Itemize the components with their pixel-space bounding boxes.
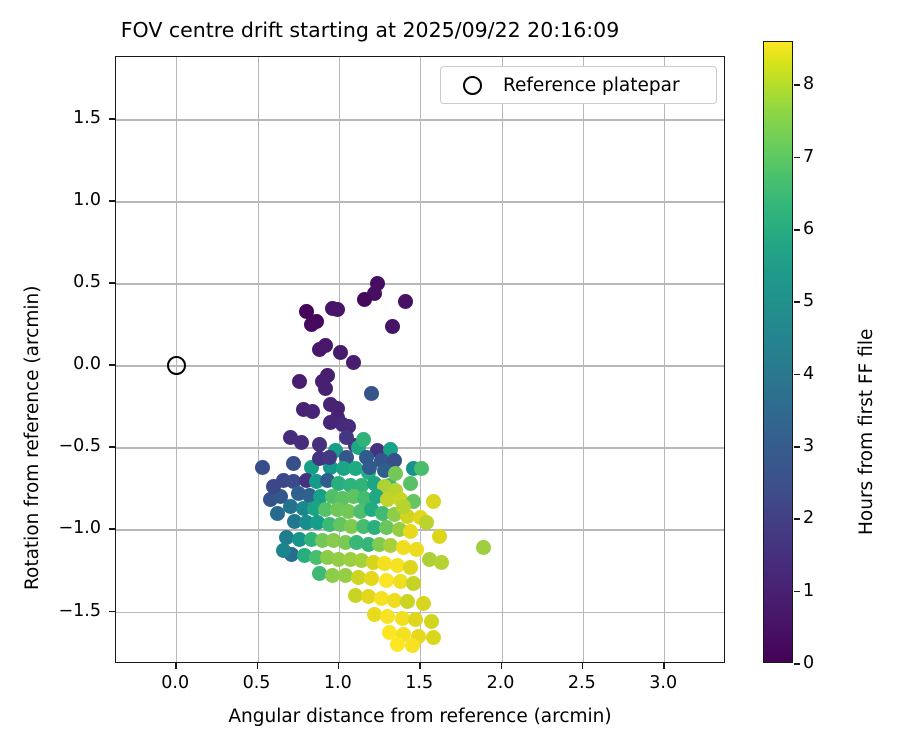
x-tick-label: 1.0 bbox=[324, 673, 352, 693]
colorbar-tick bbox=[794, 518, 800, 520]
scatter-point bbox=[294, 435, 309, 450]
scatter-point bbox=[284, 547, 299, 562]
scatter-point bbox=[374, 453, 389, 468]
scatter-point bbox=[379, 573, 394, 588]
scatter-point bbox=[351, 570, 366, 585]
scatter-point bbox=[286, 474, 301, 489]
legend: Reference platepar bbox=[440, 66, 717, 104]
colorbar-gradient bbox=[763, 41, 793, 663]
scatter-point bbox=[318, 338, 333, 353]
x-tick bbox=[338, 663, 340, 669]
y-tick bbox=[109, 446, 115, 448]
figure-root: FOV centre drift starting at 2025/09/22 … bbox=[0, 0, 900, 750]
scatter-point bbox=[348, 588, 363, 603]
legend-marker-cell bbox=[441, 76, 503, 95]
scatter-point bbox=[331, 552, 346, 567]
scatter-point bbox=[279, 530, 294, 545]
scatter-point bbox=[403, 524, 418, 539]
scatter-point bbox=[341, 504, 356, 519]
scatter-point bbox=[330, 502, 345, 517]
scatter-point bbox=[318, 502, 333, 517]
scatter-point bbox=[283, 430, 298, 445]
scatter-point bbox=[304, 317, 319, 332]
scatter-point bbox=[320, 473, 335, 488]
scatter-point bbox=[336, 461, 351, 476]
scatter-point bbox=[330, 410, 345, 425]
scatter-point bbox=[409, 542, 424, 557]
scatter-point bbox=[380, 609, 395, 624]
scatter-point bbox=[304, 460, 319, 475]
scatter-point bbox=[325, 489, 340, 504]
scatter-point bbox=[309, 314, 324, 329]
scatter-point bbox=[392, 522, 407, 537]
x-tick bbox=[582, 663, 584, 669]
colorbar-tick-label: 4 bbox=[803, 364, 814, 384]
colorbar-tick-label: 0 bbox=[803, 653, 814, 673]
y-tick-label: 1.0 bbox=[73, 190, 101, 210]
scatter-point bbox=[375, 506, 390, 521]
scatter-point bbox=[379, 520, 394, 535]
scatter-point bbox=[344, 519, 359, 534]
colorbar-tick bbox=[794, 663, 800, 665]
scatter-point bbox=[396, 499, 411, 514]
scatter-point bbox=[426, 494, 441, 509]
scatter-point bbox=[320, 550, 335, 565]
gridline-vertical bbox=[339, 57, 340, 662]
scatter-point bbox=[387, 593, 402, 608]
page-title: FOV centre drift starting at 2025/09/22 … bbox=[0, 18, 740, 42]
y-tick bbox=[109, 282, 115, 284]
scatter-point bbox=[354, 478, 369, 493]
scatter-point bbox=[320, 368, 335, 383]
scatter-point bbox=[338, 568, 353, 583]
scatter-point bbox=[296, 501, 311, 516]
scatter-point bbox=[416, 596, 431, 611]
scatter-point bbox=[396, 627, 411, 642]
gridline-horizontal bbox=[116, 365, 724, 366]
colorbar-tick-label: 2 bbox=[803, 508, 814, 528]
scatter-point bbox=[382, 625, 397, 640]
scatter-point bbox=[426, 630, 441, 645]
scatter-point bbox=[273, 489, 288, 504]
scatter-point bbox=[276, 543, 291, 558]
scatter-point bbox=[398, 294, 413, 309]
scatter-point bbox=[400, 594, 415, 609]
scatter-point bbox=[434, 555, 449, 570]
x-tick bbox=[257, 663, 259, 669]
scatter-point bbox=[395, 611, 410, 626]
scatter-point bbox=[297, 548, 312, 563]
gridline-vertical bbox=[583, 57, 584, 662]
scatter-point bbox=[270, 506, 285, 521]
scatter-point bbox=[312, 566, 327, 581]
scatter-point bbox=[348, 438, 363, 453]
scatter-point bbox=[325, 301, 340, 316]
scatter-point bbox=[328, 443, 343, 458]
scatter-point bbox=[325, 568, 340, 583]
scatter-point bbox=[367, 607, 382, 622]
scatter-point bbox=[299, 304, 314, 319]
scatter-point bbox=[364, 502, 379, 517]
scatter-point bbox=[387, 507, 402, 522]
scatter-point bbox=[333, 345, 348, 360]
colorbar-tick bbox=[794, 374, 800, 376]
scatter-point bbox=[318, 381, 333, 396]
scatter-point bbox=[283, 499, 298, 514]
colorbar-tick bbox=[794, 84, 800, 86]
scatter-point bbox=[346, 355, 361, 370]
scatter-point bbox=[357, 491, 372, 506]
plot-area bbox=[115, 56, 725, 663]
scatter-point bbox=[312, 451, 327, 466]
scatter-point bbox=[408, 612, 423, 627]
scatter-point bbox=[322, 450, 337, 465]
scatter-point bbox=[255, 460, 270, 475]
y-tick-label: 1.5 bbox=[73, 108, 101, 128]
scatter-point bbox=[369, 489, 384, 504]
scatter-point bbox=[424, 614, 439, 629]
gridline-horizontal bbox=[116, 283, 724, 284]
scatter-point bbox=[380, 492, 395, 507]
colorbar-tick bbox=[794, 301, 800, 303]
scatter-point bbox=[348, 461, 363, 476]
scatter-point bbox=[390, 637, 405, 652]
colorbar-tick-label: 6 bbox=[803, 219, 814, 239]
scatter-point bbox=[291, 486, 306, 501]
scatter-point bbox=[299, 515, 314, 530]
y-tick bbox=[109, 528, 115, 530]
scatter-point bbox=[287, 514, 302, 529]
gridline-vertical bbox=[664, 57, 665, 662]
y-tick bbox=[109, 118, 115, 120]
scatter-point bbox=[299, 473, 314, 488]
scatter-point bbox=[309, 474, 324, 489]
x-tick bbox=[175, 663, 177, 669]
scatter-point bbox=[364, 571, 379, 586]
scatter-point bbox=[323, 397, 338, 412]
scatter-point bbox=[341, 419, 356, 434]
scatter-point bbox=[370, 276, 385, 291]
scatter-point bbox=[377, 463, 392, 478]
colorbar-tick-label: 5 bbox=[803, 291, 814, 311]
colorbar-tick-label: 3 bbox=[803, 436, 814, 456]
scatter-point bbox=[432, 529, 447, 544]
scatter-point bbox=[323, 460, 338, 475]
scatter-point bbox=[362, 460, 377, 475]
x-tick bbox=[419, 663, 421, 669]
gridline-horizontal bbox=[116, 119, 724, 120]
scatter-point bbox=[309, 550, 324, 565]
reference-platepar-marker bbox=[167, 356, 186, 375]
scatter-point bbox=[406, 461, 421, 476]
scatter-point bbox=[307, 501, 322, 516]
scatter-point bbox=[353, 504, 368, 519]
scatter-point bbox=[414, 461, 429, 476]
scatter-point bbox=[326, 533, 341, 548]
scatter-point bbox=[315, 374, 330, 389]
x-tick-label: 3.0 bbox=[649, 673, 677, 693]
scatter-point bbox=[377, 556, 392, 571]
scatter-point bbox=[396, 540, 411, 555]
scatter-point bbox=[331, 476, 346, 491]
y-tick bbox=[109, 611, 115, 613]
colorbar-tick-label: 8 bbox=[803, 74, 814, 94]
colorbar-title: Hours from first FF file bbox=[856, 329, 877, 535]
colorbar-tick bbox=[794, 591, 800, 593]
scatter-point bbox=[403, 560, 418, 575]
scatter-point bbox=[422, 552, 437, 567]
scatter-point bbox=[339, 430, 354, 445]
scatter-point bbox=[361, 537, 376, 552]
scatter-point bbox=[372, 537, 387, 552]
scatter-point bbox=[263, 492, 278, 507]
scatter-point bbox=[370, 443, 385, 458]
scatter-point bbox=[313, 489, 328, 504]
scatter-point bbox=[359, 450, 374, 465]
scatter-points bbox=[116, 57, 724, 662]
scatter-point bbox=[310, 515, 325, 530]
scatter-point bbox=[343, 552, 358, 567]
open-circle-icon bbox=[463, 76, 482, 95]
gridline-vertical bbox=[502, 57, 503, 662]
scatter-point bbox=[304, 532, 319, 547]
scatter-point bbox=[323, 415, 338, 430]
reference-layer bbox=[116, 57, 724, 662]
colorbar-tick-label: 1 bbox=[803, 581, 814, 601]
scatter-point bbox=[292, 532, 307, 547]
scatter-point bbox=[364, 386, 379, 401]
scatter-point bbox=[330, 302, 345, 317]
scatter-point bbox=[357, 292, 372, 307]
scatter-point bbox=[292, 374, 307, 389]
scatter-point bbox=[343, 478, 358, 493]
scatter-point bbox=[413, 510, 428, 525]
scatter-point bbox=[393, 492, 408, 507]
scatter-point bbox=[286, 456, 301, 471]
colorbar-tick-label: 7 bbox=[803, 147, 814, 167]
scatter-point bbox=[354, 553, 369, 568]
scatter-point bbox=[388, 483, 403, 498]
x-tick bbox=[501, 663, 503, 669]
x-axis-label: Angular distance from reference (arcmin) bbox=[115, 706, 725, 727]
scatter-point bbox=[367, 520, 382, 535]
scatter-point bbox=[361, 465, 376, 480]
y-tick-label: −1.5 bbox=[59, 601, 102, 621]
scatter-point bbox=[338, 535, 353, 550]
scatter-point bbox=[312, 342, 327, 357]
colorbar-tick bbox=[794, 446, 800, 448]
scatter-point bbox=[305, 404, 320, 419]
scatter-point bbox=[411, 629, 426, 644]
gridline-horizontal bbox=[116, 201, 724, 202]
scatter-point bbox=[266, 479, 281, 494]
scatter-point bbox=[385, 319, 400, 334]
scatter-point bbox=[393, 574, 408, 589]
gridline-vertical bbox=[176, 57, 177, 662]
scatter-point bbox=[374, 591, 389, 606]
y-tick-label: −0.5 bbox=[59, 436, 102, 456]
scatter-point bbox=[276, 473, 291, 488]
scatter-point bbox=[330, 401, 345, 416]
legend-label: Reference platepar bbox=[503, 75, 680, 96]
scatter-point bbox=[322, 517, 337, 532]
scatter-point bbox=[383, 538, 398, 553]
scatter-point bbox=[315, 533, 330, 548]
y-tick-label: 0.5 bbox=[73, 272, 101, 292]
scatter-point bbox=[405, 638, 420, 653]
scatter-point bbox=[476, 540, 491, 555]
gridline-horizontal bbox=[116, 612, 724, 613]
y-tick bbox=[109, 200, 115, 202]
y-tick-label: −1.0 bbox=[59, 518, 102, 538]
scatter-point bbox=[383, 442, 398, 457]
scatter-point bbox=[406, 576, 421, 591]
scatter-point bbox=[400, 509, 415, 524]
x-tick-label: 0.5 bbox=[243, 673, 271, 693]
x-tick-label: 2.5 bbox=[568, 673, 596, 693]
scatter-point bbox=[296, 402, 311, 417]
scatter-point bbox=[406, 494, 421, 509]
x-tick-label: 2.0 bbox=[487, 673, 515, 693]
gridlines bbox=[116, 57, 724, 662]
scatter-point bbox=[419, 515, 434, 530]
scatter-point bbox=[339, 450, 354, 465]
scatter-point bbox=[335, 491, 350, 506]
scatter-point bbox=[335, 417, 350, 432]
scatter-point bbox=[367, 286, 382, 301]
y-axis-label: Rotation from reference (arcmin) bbox=[22, 286, 43, 590]
gridline-horizontal bbox=[116, 447, 724, 448]
y-tick-label: 0.0 bbox=[73, 354, 101, 374]
x-tick-label: 0.0 bbox=[161, 673, 189, 693]
scatter-point bbox=[356, 519, 371, 534]
gridline-vertical bbox=[258, 57, 259, 662]
scatter-point bbox=[346, 489, 361, 504]
x-tick bbox=[663, 663, 665, 669]
gridline-vertical bbox=[420, 57, 421, 662]
scatter-point bbox=[382, 478, 397, 493]
scatter-point bbox=[366, 555, 381, 570]
scatter-point bbox=[390, 558, 405, 573]
scatter-point bbox=[333, 517, 348, 532]
scatter-point bbox=[377, 479, 392, 494]
scatter-point bbox=[351, 440, 366, 455]
scatter-point bbox=[356, 432, 371, 447]
scatter-point bbox=[403, 476, 418, 491]
scatter-point bbox=[349, 535, 364, 550]
scatter-point bbox=[388, 466, 403, 481]
scatter-point bbox=[361, 589, 376, 604]
scatter-point bbox=[312, 437, 327, 452]
colorbar-tick bbox=[794, 229, 800, 231]
y-tick bbox=[109, 364, 115, 366]
scatter-point bbox=[302, 488, 317, 503]
x-tick-label: 1.5 bbox=[405, 673, 433, 693]
scatter-point bbox=[387, 453, 402, 468]
scatter-point bbox=[367, 476, 382, 491]
gridline-horizontal bbox=[116, 529, 724, 530]
colorbar-tick bbox=[794, 157, 800, 159]
